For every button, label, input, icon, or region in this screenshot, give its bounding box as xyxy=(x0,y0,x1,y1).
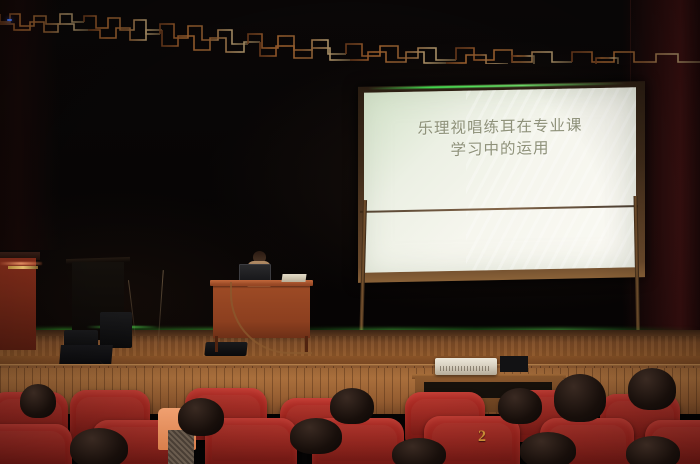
screen-surface: 乐理视唱练耳在专业课 学习中的运用 xyxy=(364,87,636,272)
piano-keyboard-highlight xyxy=(8,266,38,269)
audience-head xyxy=(330,388,374,424)
audience-head xyxy=(498,388,542,424)
projector-vent xyxy=(440,366,490,371)
projector-side-case xyxy=(500,356,528,372)
list-item xyxy=(0,424,72,464)
desk-paper-document xyxy=(281,274,306,282)
audience-head xyxy=(628,368,676,410)
lectern-light-strip xyxy=(0,262,42,265)
audience-head xyxy=(392,438,446,464)
stage-speaker-one xyxy=(100,312,132,348)
photograph-scene: 乐理视唱练耳在专业课 学习中的运用 xyxy=(0,0,700,464)
audience-head xyxy=(178,398,224,436)
lectern-podium xyxy=(0,258,36,350)
audience-head xyxy=(520,432,576,464)
audience-head xyxy=(554,374,606,422)
laptop-power-led xyxy=(7,19,12,21)
audience-head xyxy=(20,384,56,418)
audience-head xyxy=(626,436,680,464)
slide-title-text: 乐理视唱练耳在专业课 学习中的运用 xyxy=(364,113,636,163)
audience-head xyxy=(70,428,128,464)
audience-head xyxy=(290,418,342,454)
seat-number-label: 2 xyxy=(478,428,486,446)
projection-screen: 乐理视唱练耳在专业课 学习中的运用 xyxy=(358,84,645,280)
meander-key-fret-border-icon xyxy=(0,0,700,64)
